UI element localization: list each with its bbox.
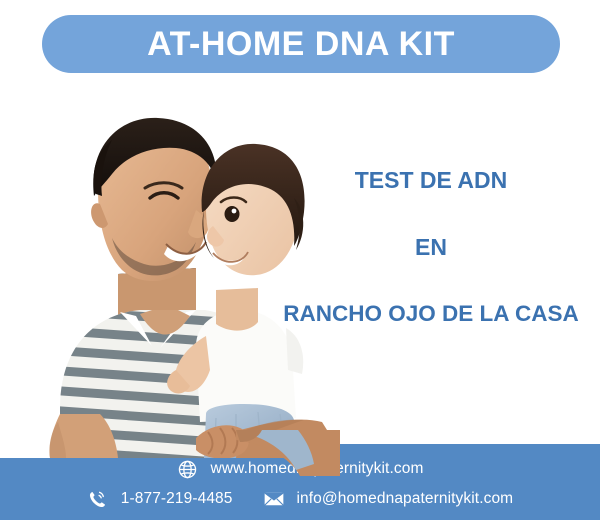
- footer-email-item[interactable]: info@homednapaternitykit.com: [263, 488, 514, 510]
- headline-line-3: RANCHO OJO DE LA CASA: [262, 303, 600, 326]
- envelope-icon: [263, 488, 285, 510]
- website-text: www.homednapaternitykit.com: [211, 461, 424, 477]
- phone-text: 1-877-219-4485: [121, 491, 233, 507]
- poster-canvas: AT-HOME DNA KIT: [0, 0, 600, 520]
- footer-row-contact: 1-877-219-4485 info@homednapaternitykit.…: [0, 488, 600, 510]
- footer-phone-item[interactable]: 1-877-219-4485: [87, 488, 233, 510]
- page-title: AT-HOME DNA KIT: [147, 27, 455, 61]
- globe-icon: [177, 458, 199, 480]
- headline-line-1: TEST DE ADN: [262, 169, 600, 192]
- footer-row-website: www.homednapaternitykit.com: [0, 458, 600, 480]
- header-banner: AT-HOME DNA KIT: [42, 15, 560, 73]
- footer-website-item[interactable]: www.homednapaternitykit.com: [177, 458, 424, 480]
- headline-block: TEST DE ADN EN RANCHO OJO DE LA CASA: [262, 160, 600, 326]
- headline-line-2: EN: [262, 236, 600, 259]
- phone-icon: [87, 488, 109, 510]
- email-text: info@homednapaternitykit.com: [297, 491, 514, 507]
